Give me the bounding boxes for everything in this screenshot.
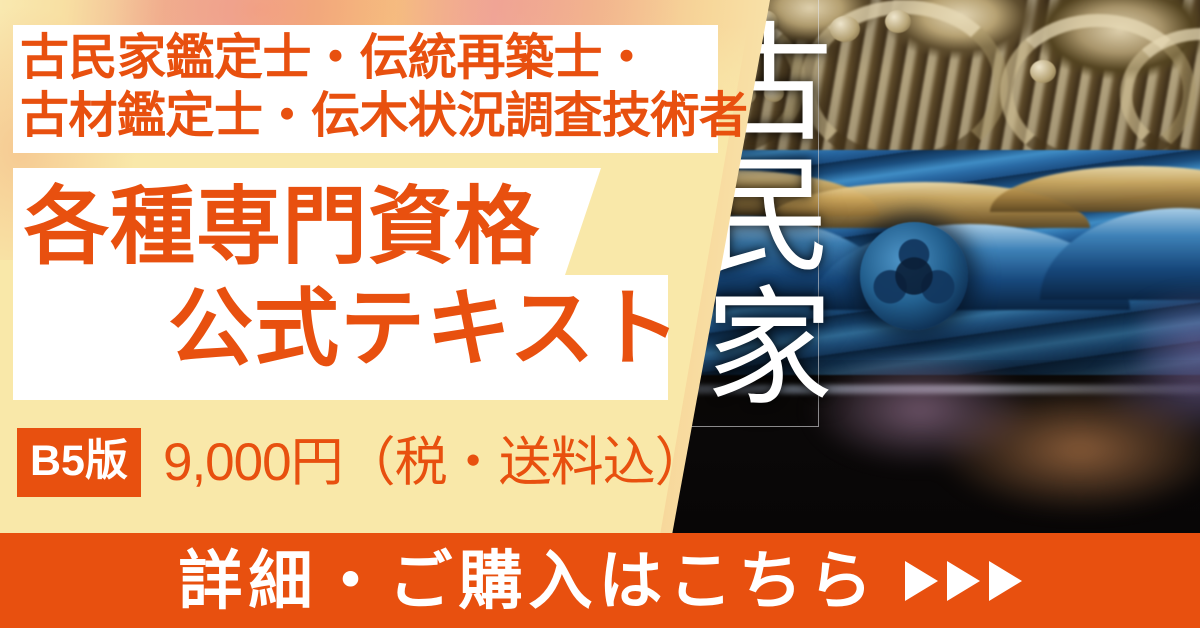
headline-line-2: 公式テキスト [168,287,681,372]
price-row: B5版 9,000円（税・送料込） [17,428,707,497]
headline-line-1: 各種専門資格 [24,185,540,270]
cta-arrows [905,561,1022,601]
qualifications-text: 古民家鑑定士・伝統再築士・ 古材鑑定士・伝木状況調査技術者 [20,30,720,146]
promo-banner: 伝統構法 古民家活用のための調査と再生の 古民家 古民家鑑定士・伝統再築士・ 古… [0,0,1200,628]
bokeh-glow-secondary [1140,250,1200,430]
wood-bead-decoration [1030,60,1056,83]
family-crest-medallion [860,222,968,330]
qualifications-line-2: 古材鑑定士・伝木状況調査技術者 [20,88,720,146]
chevron-right-icon [989,561,1022,601]
price-amount: 9,000円（税・送料込） [163,436,707,489]
chevron-right-icon [947,561,980,601]
wood-bead-decoration [830,16,860,42]
qualifications-line-1: 古民家鑑定士・伝統再築士・ [20,30,720,88]
bokeh-glow [780,330,1200,535]
cta-label: 詳細・ご購入はこちら [179,549,879,613]
wood-bead-decoration [885,10,911,33]
cta-bar[interactable]: 詳細・ご購入はこちら [0,533,1200,628]
chevron-right-icon [905,561,938,601]
size-badge: B5版 [17,428,141,497]
